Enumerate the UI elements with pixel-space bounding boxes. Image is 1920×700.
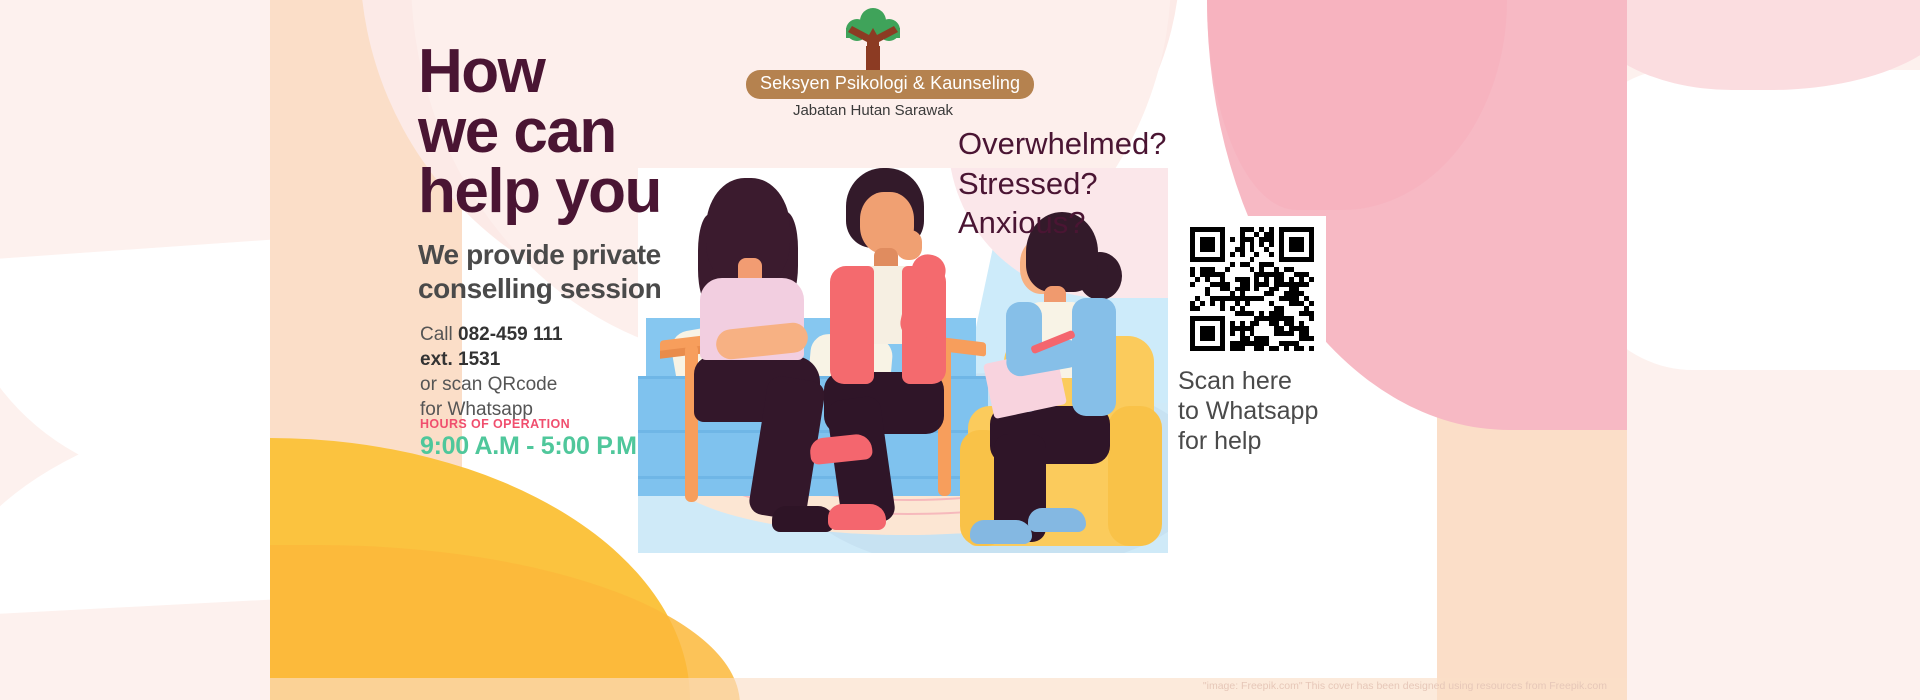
yellow-wave-shape-2 bbox=[270, 545, 740, 700]
question-line-1: Overwhelmed? bbox=[958, 124, 1288, 164]
contact-phone-line: Call 082-459 111 bbox=[420, 322, 710, 347]
contact-block: Call 082-459 111 ext. 1531 or scan QRcod… bbox=[420, 322, 710, 422]
whatsapp-qr-code[interactable] bbox=[1190, 227, 1314, 351]
image-credit: "image: Freepik.com" This cover has been… bbox=[1203, 680, 1607, 692]
subheadline-line-2: conselling session bbox=[418, 272, 718, 306]
client-man-cardigan-left bbox=[830, 266, 874, 384]
poster-card: Seksyen Psikologi & Kaunseling Jabatan H… bbox=[270, 0, 1627, 700]
logo-org-department: Jabatan Hutan Sarawak bbox=[746, 102, 1000, 119]
client-woman-shoe bbox=[772, 506, 834, 532]
phone-number[interactable]: 082-459 111 bbox=[458, 324, 563, 345]
organisation-logo: Seksyen Psikologi & Kaunseling Jabatan H… bbox=[746, 8, 1000, 119]
client-man-hand bbox=[896, 230, 922, 260]
question-line-2: Stressed? bbox=[958, 164, 1288, 204]
contact-line-3: or scan QRcode bbox=[420, 372, 710, 397]
headline-line-3: help you bbox=[418, 162, 728, 222]
counselor-shoe-front bbox=[970, 520, 1032, 544]
qr-caption: Scan here to Whatsapp for help bbox=[1178, 366, 1338, 456]
poster-stage: Seksyen Psikologi & Kaunseling Jabatan H… bbox=[0, 0, 1920, 700]
qr-caption-line-1: Scan here bbox=[1178, 366, 1338, 396]
client-man-shoe-lower bbox=[828, 504, 886, 530]
qr-caption-line-3: for help bbox=[1178, 426, 1338, 456]
hours-value: 9:00 A.M - 5:00 P.M bbox=[420, 432, 637, 461]
subheadline: We provide private conselling session bbox=[418, 238, 718, 305]
background-wave-right-pink bbox=[1580, 0, 1920, 90]
hours-label: HOURS OF OPERATION bbox=[420, 417, 570, 431]
qr-caption-line-2: to Whatsapp bbox=[1178, 396, 1338, 426]
call-prefix: Call bbox=[420, 324, 458, 345]
phone-extension: ext. 1531 bbox=[420, 349, 500, 370]
counselor-shoe-back bbox=[1028, 508, 1086, 532]
armchair-arm-right bbox=[1108, 406, 1162, 546]
subheadline-line-1: We provide private bbox=[418, 238, 718, 272]
logo-org-name: Seksyen Psikologi & Kaunseling bbox=[746, 70, 1034, 99]
headline-line-2: we can bbox=[418, 102, 728, 162]
tree-logo-icon bbox=[836, 8, 910, 72]
qr-code-card[interactable] bbox=[1178, 216, 1326, 362]
headline-line-1: How bbox=[418, 42, 728, 102]
page-title: How we can help you bbox=[418, 42, 728, 222]
